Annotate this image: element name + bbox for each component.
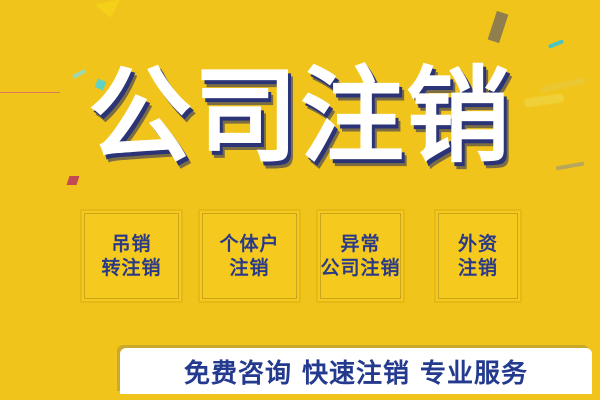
category-line-2: 转注销 [101, 256, 161, 280]
page-title: 公司注销 [0, 62, 600, 170]
category-line-1: 吊销 [111, 232, 151, 256]
category-line-2: 注销 [458, 256, 498, 280]
category-box-group: 吊销 转注销 个体户 注销 异常 公司注销 外资 注销 [0, 209, 600, 305]
slogan-text: 免费咨询 快速注销 专业服务 [184, 353, 528, 390]
category-box-getihu-zhuxiao[interactable]: 个体户 注销 [198, 209, 301, 303]
category-line-1: 个体户 [219, 232, 279, 256]
poster-canvas: 公司注销 吊销 转注销 个体户 注销 异常 公司注销 外资 注销 免费咨询 快速… [0, 0, 600, 400]
category-line-2: 公司注销 [320, 256, 400, 280]
category-line-1: 外资 [458, 232, 498, 256]
bottom-slogan-banner: 免费咨询 快速注销 专业服务 [120, 348, 592, 394]
category-line-2: 注销 [229, 256, 269, 280]
category-box-diaoxiao-zhuanzhuxiao[interactable]: 吊销 转注销 [80, 209, 183, 303]
category-box-yichang-gongsi-zhuxiao[interactable]: 异常 公司注销 [316, 209, 405, 303]
category-box-waizi-zhuxiao[interactable]: 外资 注销 [434, 209, 522, 303]
category-line-1: 异常 [340, 232, 380, 256]
